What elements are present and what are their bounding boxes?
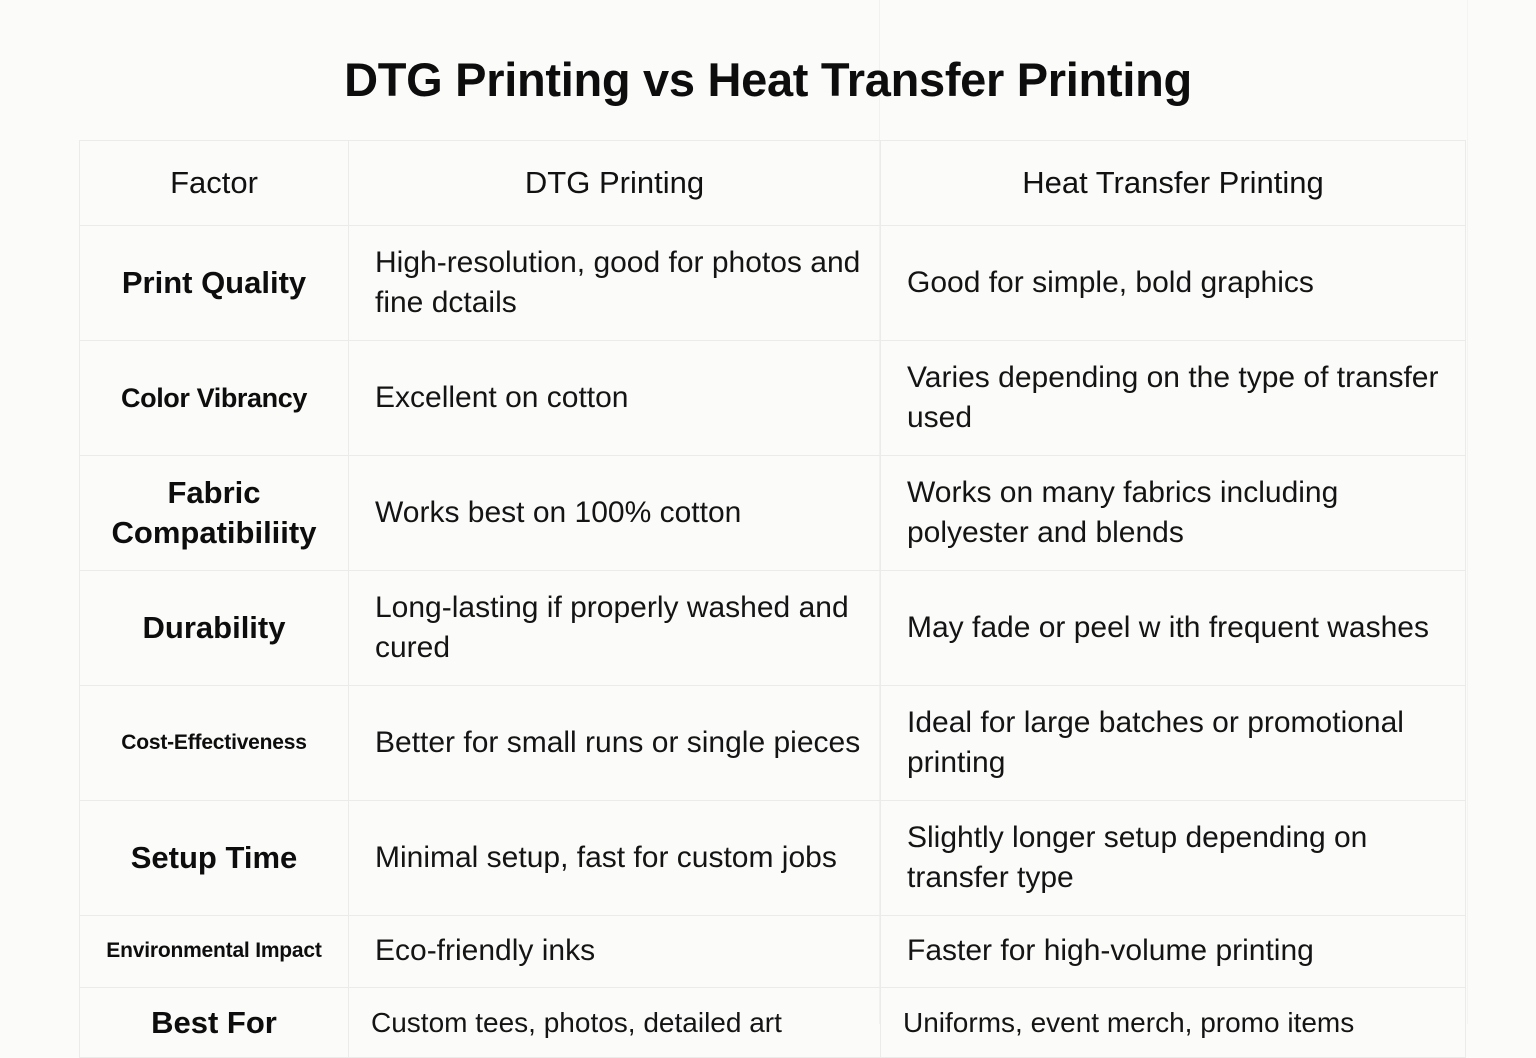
row-label-durability: Durability (80, 571, 349, 686)
cell-heat-color-vibrancy: Varies depending on the type of transfer… (881, 341, 1466, 456)
column-header-factor: Factor (80, 141, 349, 226)
table-row: Color Vibrancy Excellent on cotton Varie… (80, 341, 1466, 456)
table-header: Factor DTG Printing Heat Transfer Printi… (80, 141, 1466, 226)
table-row: Cost-Effectiveness Better for small runs… (80, 686, 1466, 801)
cell-dtg-color-vibrancy: Excellent on cotton (349, 341, 881, 456)
cell-heat-durability: May fade or peel w ith frequent washes (881, 571, 1466, 686)
row-label-fabric-compatibility: Fabric Compatibiliity (80, 456, 349, 571)
table-row: Best For Custom tees, photos, detailed a… (80, 988, 1466, 1058)
table-header-row: Factor DTG Printing Heat Transfer Printi… (80, 141, 1466, 226)
cell-heat-cost-effectiveness: Ideal for large batches or promotional p… (881, 686, 1466, 801)
cell-dtg-print-quality: High-resolution, good for photos and fin… (349, 226, 881, 341)
cell-heat-setup-time: Slightly longer setup depending on trans… (881, 801, 1466, 916)
cell-heat-environmental-impact: Faster for high-volume printing (881, 916, 1466, 988)
cell-heat-print-quality: Good for simple, bold graphics (881, 226, 1466, 341)
cell-dtg-cost-effectiveness: Better for small runs or single pieces (349, 686, 881, 801)
column-header-dtg-printing: DTG Printing (349, 141, 881, 226)
comparison-table: Factor DTG Printing Heat Transfer Printi… (79, 140, 1466, 1058)
cell-dtg-environmental-impact: Eco-friendly inks (349, 916, 881, 988)
cell-dtg-best-for: Custom tees, photos, detailed art (349, 988, 881, 1058)
row-label-setup-time: Setup Time (80, 801, 349, 916)
table-row: Print Quality High-resolution, good for … (80, 226, 1466, 341)
table-row: Setup Time Minimal setup, fast for custo… (80, 801, 1466, 916)
cell-dtg-setup-time: Minimal setup, fast for custom jobs (349, 801, 881, 916)
column-header-heat-transfer-printing: Heat Transfer Printing (881, 141, 1466, 226)
row-label-cost-effectiveness: Cost-Effectiveness (80, 686, 349, 801)
comparison-page: DTG Printing vs Heat Transfer Printing F… (0, 0, 1536, 1024)
row-label-print-quality: Print Quality (80, 226, 349, 341)
row-label-color-vibrancy: Color Vibrancy (80, 341, 349, 456)
table-row: Fabric Compatibiliity Works best on 100%… (80, 456, 1466, 571)
cell-dtg-fabric-compatibility: Works best on 100% cotton (349, 456, 881, 571)
cell-dtg-durability: Long-lasting if properly washed and cure… (349, 571, 881, 686)
cell-heat-best-for: Uniforms, event merch, promo items (881, 988, 1466, 1058)
row-label-best-for: Best For (80, 988, 349, 1058)
page-title: DTG Printing vs Heat Transfer Printing (0, 52, 1536, 107)
table-row: Environmental Impact Eco-friendly inks F… (80, 916, 1466, 988)
table-body: Print Quality High-resolution, good for … (80, 226, 1466, 1058)
table-row: Durability Long-lasting if properly wash… (80, 571, 1466, 686)
row-label-environmental-impact: Environmental Impact (80, 916, 349, 988)
cell-heat-fabric-compatibility: Works on many fabrics including polyeste… (881, 456, 1466, 571)
